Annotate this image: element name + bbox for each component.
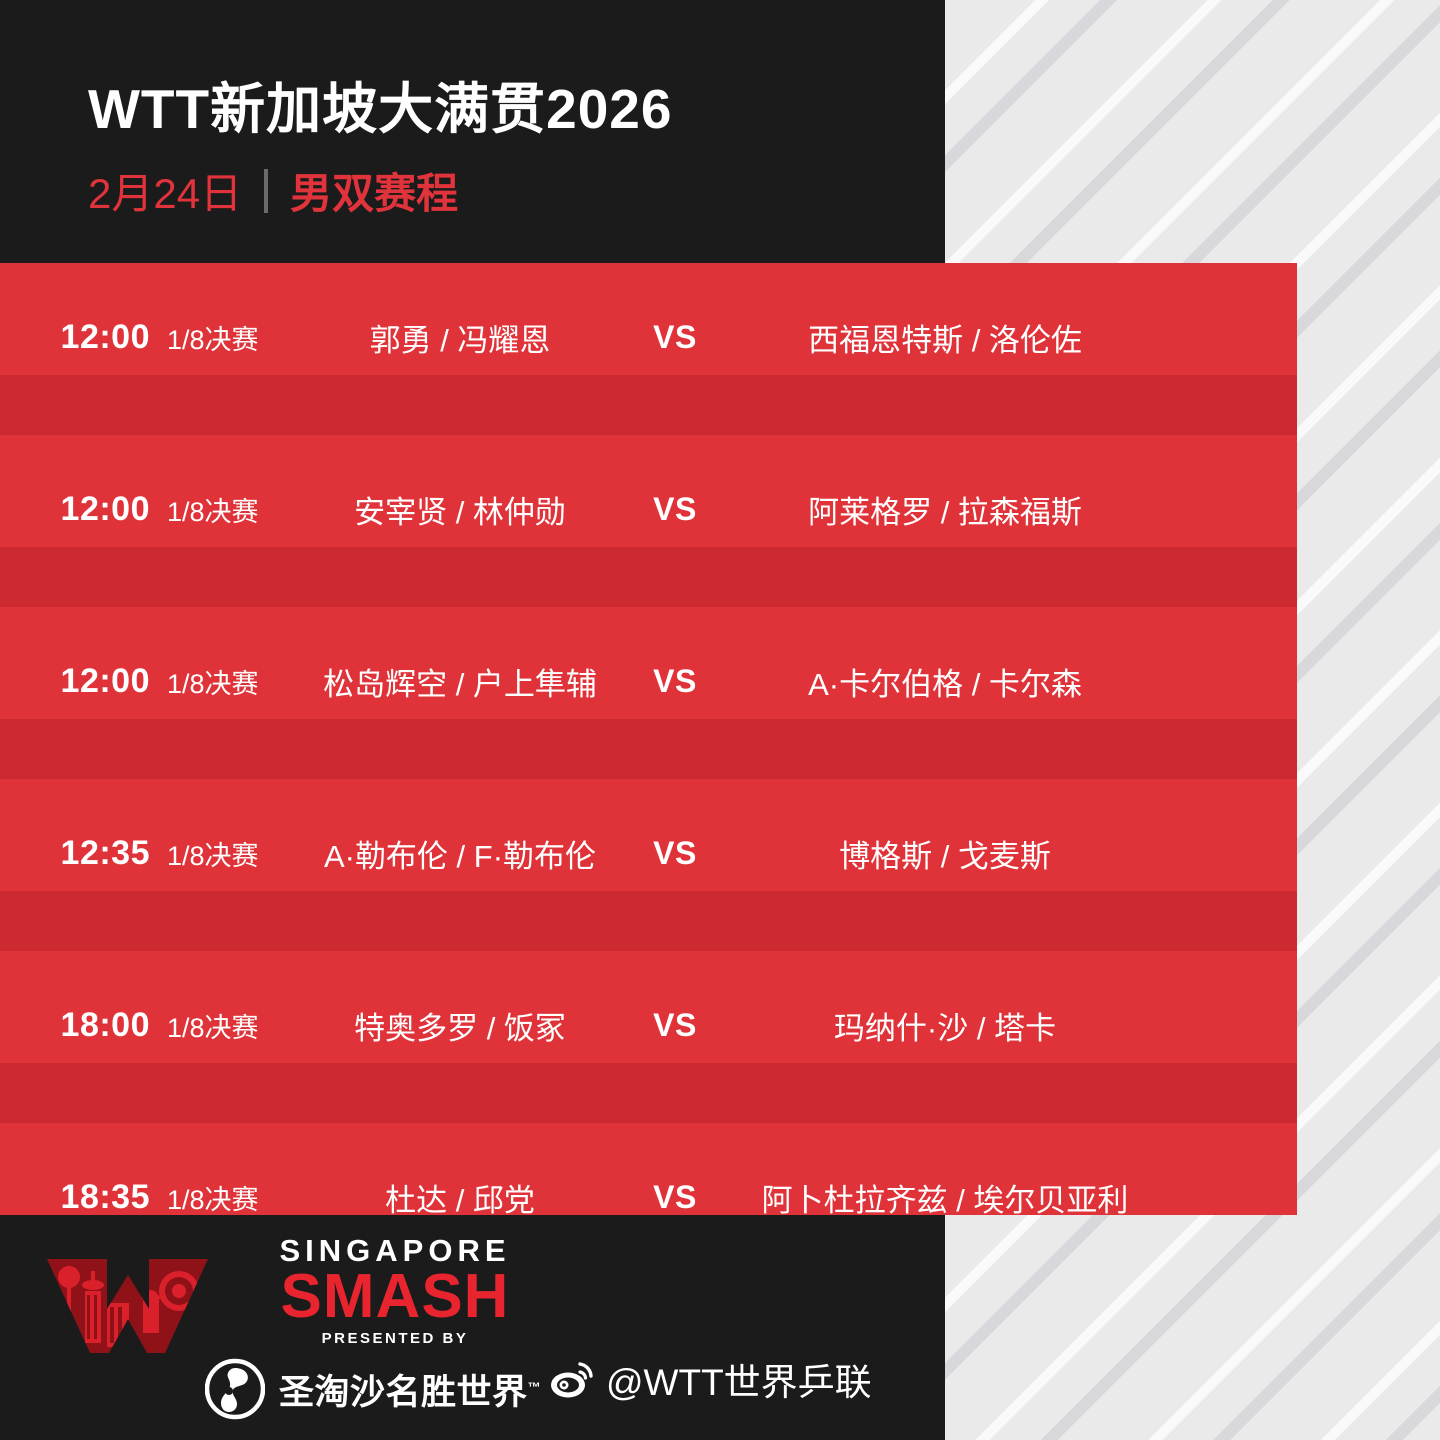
vs-label: VS bbox=[620, 1179, 730, 1216]
match-row: 12:001/8决赛安宰贤 / 林仲勋VS阿莱格罗 / 拉森福斯 bbox=[0, 466, 1297, 552]
header-subline: 2月24日 男双赛程 bbox=[88, 160, 458, 221]
team-right: 阿莱格罗 / 拉森福斯 bbox=[730, 487, 1160, 532]
match-row: 12:001/8决赛松岛辉空 / 户上隼辅VSA·卡尔伯格 / 卡尔森 bbox=[0, 638, 1297, 724]
team-right: A·卡尔伯格 / 卡尔森 bbox=[730, 659, 1160, 704]
match-round: 1/8决赛 bbox=[150, 662, 300, 701]
page-footer: SINGAPORE SMASH PRESENTED BY 圣淘沙名胜世界™ bbox=[0, 1215, 945, 1440]
subline-divider bbox=[264, 169, 268, 213]
schedule-panel: 12:001/8决赛郭勇 / 冯耀恩VS西福恩特斯 / 洛伦佐12:001/8决… bbox=[0, 263, 1297, 1215]
match-time: 18:35 bbox=[0, 1178, 150, 1216]
vs-label: VS bbox=[620, 491, 730, 528]
vs-label: VS bbox=[620, 663, 730, 700]
match-round: 1/8决赛 bbox=[150, 834, 300, 873]
match-row: 18:001/8决赛特奥多罗 / 饭冢VS玛纳什·沙 / 塔卡 bbox=[0, 982, 1297, 1068]
vs-label: VS bbox=[620, 319, 730, 356]
team-right: 阿卜杜拉齐兹 / 埃尔贝亚利 bbox=[730, 1175, 1160, 1216]
match-round: 1/8决赛 bbox=[150, 318, 300, 357]
match-round: 1/8决赛 bbox=[150, 1178, 300, 1216]
presented-by-label: PRESENTED BY bbox=[245, 1330, 545, 1347]
team-left: 特奥多罗 / 饭冢 bbox=[300, 1003, 620, 1048]
weibo-handle-text: @WTT世界乒联 bbox=[606, 1352, 872, 1406]
sponsor-name-text: 圣淘沙名胜世界 bbox=[279, 1373, 528, 1412]
vs-label: VS bbox=[620, 835, 730, 872]
stripe-band bbox=[0, 375, 1297, 435]
match-time: 12:00 bbox=[0, 662, 150, 701]
page-title: WTT新加坡大满贯2026 bbox=[88, 64, 672, 144]
match-time: 12:35 bbox=[0, 834, 150, 873]
team-right: 西福恩特斯 / 洛伦佐 bbox=[730, 315, 1160, 360]
match-time: 12:00 bbox=[0, 490, 150, 529]
team-left: 杜达 / 邱党 bbox=[300, 1175, 620, 1216]
event-date: 2月24日 bbox=[88, 160, 242, 221]
team-left: 郭勇 / 冯耀恩 bbox=[300, 315, 620, 360]
match-row: 12:001/8决赛郭勇 / 冯耀恩VS西福恩特斯 / 洛伦佐 bbox=[0, 294, 1297, 380]
vs-label: VS bbox=[620, 1007, 730, 1044]
singapore-smash-logo: SINGAPORE SMASH PRESENTED BY bbox=[40, 1235, 520, 1370]
match-row: 18:351/8决赛杜达 / 邱党VS阿卜杜拉齐兹 / 埃尔贝亚利 bbox=[0, 1154, 1297, 1215]
team-right: 玛纳什·沙 / 塔卡 bbox=[730, 1003, 1160, 1048]
event-category: 男双赛程 bbox=[290, 160, 458, 221]
match-round: 1/8决赛 bbox=[150, 1006, 300, 1045]
page-header: WTT新加坡大满贯2026 2月24日 男双赛程 bbox=[0, 0, 945, 263]
team-left: A·勒布伦 / F·勒布伦 bbox=[300, 831, 620, 876]
sponsor-lockup: 圣淘沙名胜世界™ bbox=[205, 1358, 541, 1420]
stripe-band bbox=[0, 1063, 1297, 1123]
team-left: 松岛辉空 / 户上隼辅 bbox=[300, 659, 620, 704]
match-row: 12:351/8决赛A·勒布伦 / F·勒布伦VS博格斯 / 戈麦斯 bbox=[0, 810, 1297, 896]
trademark-symbol: ™ bbox=[528, 1379, 542, 1394]
resorts-world-sentosa-icon bbox=[205, 1358, 265, 1420]
stripe-band bbox=[0, 547, 1297, 607]
match-round: 1/8决赛 bbox=[150, 490, 300, 529]
match-time: 18:00 bbox=[0, 1006, 150, 1045]
stripe-band bbox=[0, 891, 1297, 951]
weibo-handle[interactable]: @WTT世界乒联 bbox=[550, 1352, 872, 1406]
match-time: 12:00 bbox=[0, 318, 150, 357]
stripe-band bbox=[0, 719, 1297, 779]
team-left: 安宰贤 / 林仲勋 bbox=[300, 487, 620, 532]
sponsor-name: 圣淘沙名胜世界™ bbox=[279, 1364, 541, 1415]
weibo-icon bbox=[550, 1359, 596, 1399]
smash-label: SMASH bbox=[245, 1268, 545, 1327]
singapore-skyline-w-icon bbox=[45, 1257, 210, 1357]
team-right: 博格斯 / 戈麦斯 bbox=[730, 831, 1160, 876]
smash-wordmark: SINGAPORE SMASH PRESENTED BY bbox=[245, 1235, 545, 1347]
